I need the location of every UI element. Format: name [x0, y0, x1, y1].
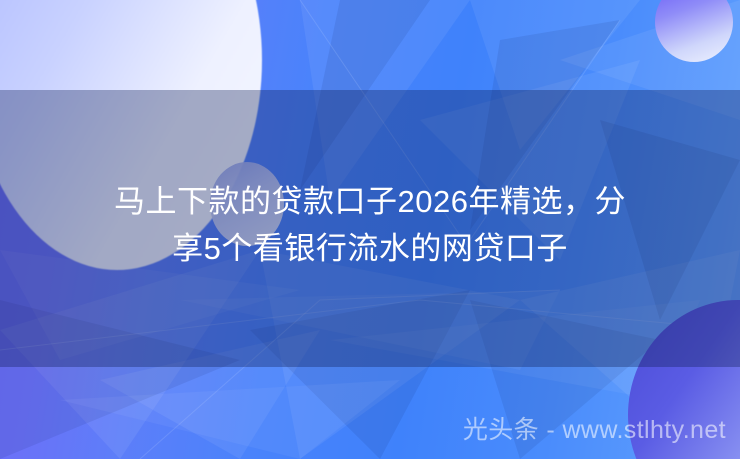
- cover-title: 马上下款的贷款口子2026年精选，分 享5个看银行流水的网贷口子: [0, 178, 740, 272]
- site-watermark: 光头条 - www.stlhty.net: [463, 410, 726, 446]
- title-line-1: 马上下款的贷款口子2026年精选，分: [34, 178, 706, 225]
- title-line-2: 享5个看银行流水的网贷口子: [34, 225, 706, 272]
- cover-image-canvas: 马上下款的贷款口子2026年精选，分 享5个看银行流水的网贷口子 光头条 - w…: [0, 0, 740, 459]
